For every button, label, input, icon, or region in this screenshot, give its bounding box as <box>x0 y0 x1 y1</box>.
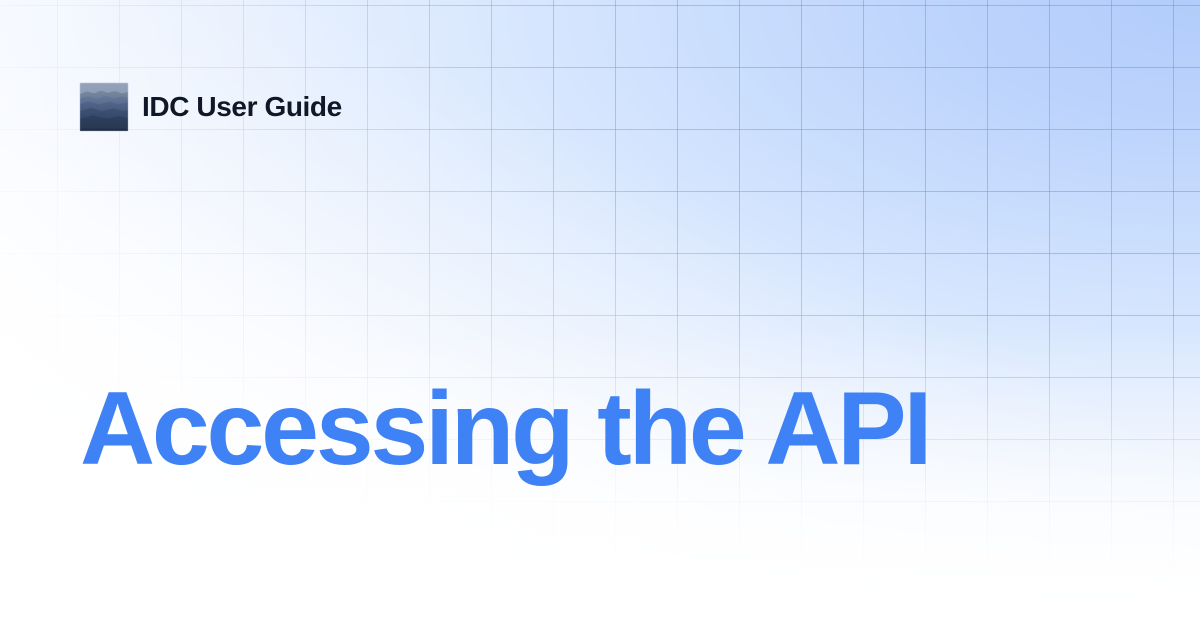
card-content: IDC User Guide Accessing the API <box>0 0 1200 630</box>
brand-name: IDC User Guide <box>142 93 342 121</box>
mountain-ridge-logo-icon <box>80 83 128 131</box>
brand-lockup: IDC User Guide <box>80 83 342 131</box>
og-card: IDC User Guide Accessing the API <box>0 0 1200 630</box>
page-title: Accessing the API <box>80 374 929 484</box>
